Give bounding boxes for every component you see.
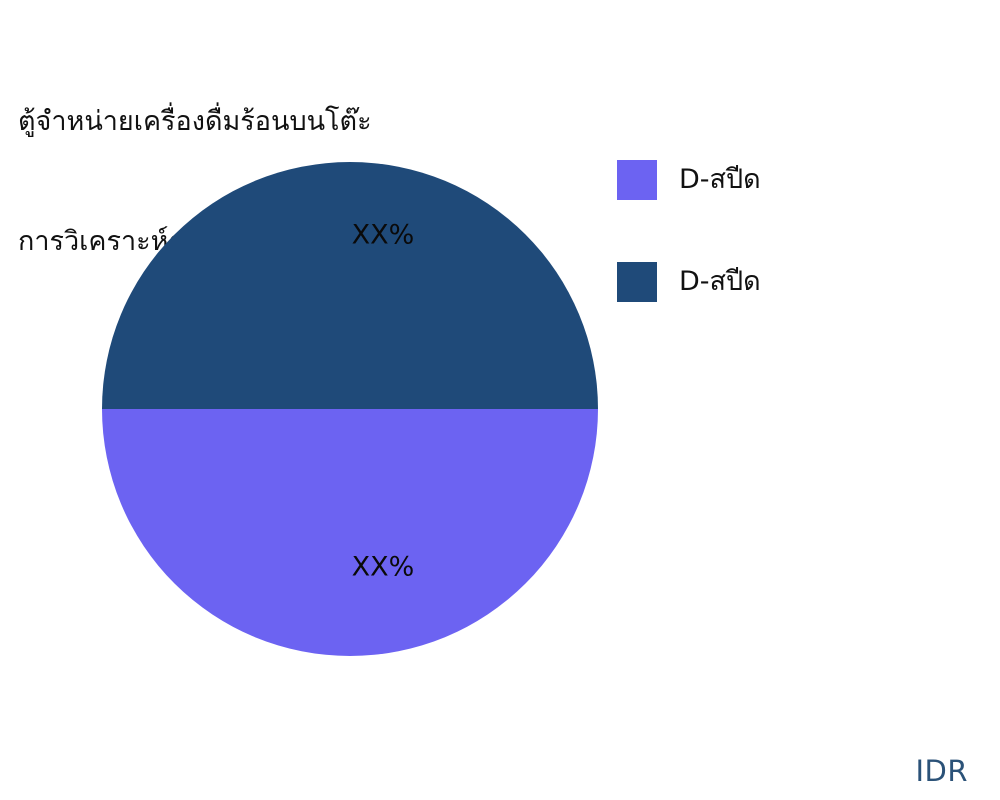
pie-plot-area: XX% XX%	[102, 162, 598, 656]
pie-svg	[102, 162, 598, 656]
legend-color-swatch-1	[617, 262, 657, 302]
legend-color-swatch-0	[617, 160, 657, 200]
pie-slice-label-0: XX%	[352, 220, 415, 251]
legend-item-1[interactable]: D-สปีด	[617, 262, 957, 302]
pie-slice-label-1: XX%	[352, 552, 415, 583]
chart-title-line-1: ตู้จำหน่ายเครื่องดื่มร้อนบนโต๊ะ	[18, 102, 618, 142]
pie-chart-figure: ตู้จำหน่ายเครื่องดื่มร้อนบนโต๊ะ การวิเคร…	[0, 0, 1000, 800]
legend-item-0[interactable]: D-สปีด	[617, 160, 957, 200]
legend-item-label-1: D-สปีด	[679, 262, 761, 302]
pie-slice-0[interactable]	[102, 409, 598, 656]
pie-slice-1[interactable]	[102, 162, 598, 409]
chart-legend: D-สปีด D-สปีด	[617, 160, 957, 364]
legend-item-label-0: D-สปีด	[679, 160, 761, 200]
watermark-label: IDR	[915, 754, 968, 788]
